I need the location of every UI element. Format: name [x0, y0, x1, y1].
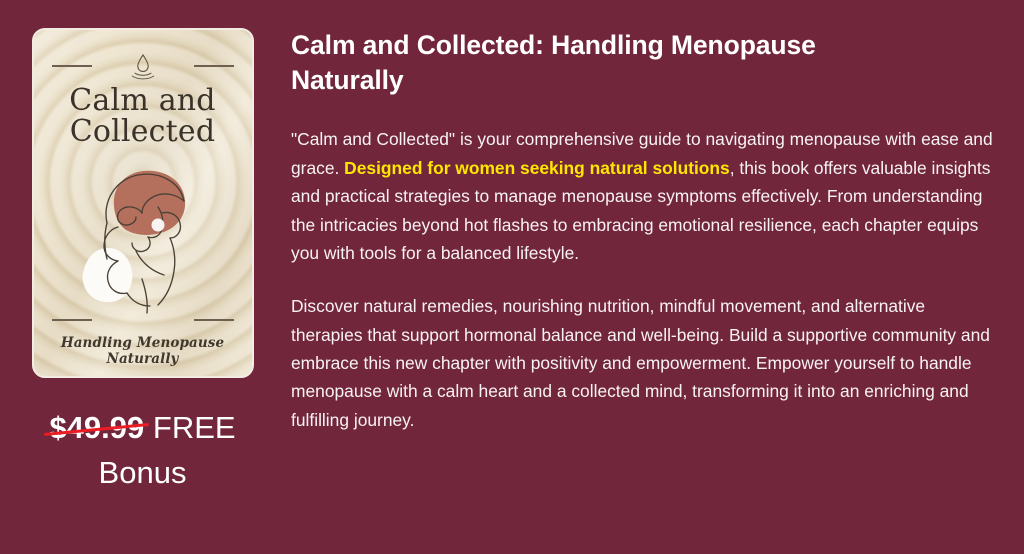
footer-rule-right: [194, 319, 234, 321]
cover-footer: Handling Menopause Naturally: [34, 319, 252, 378]
book-cover-image: Calm and Collected: [32, 28, 254, 378]
footer-rule-left: [52, 319, 92, 321]
line-art-woman-illustration: [58, 151, 228, 319]
product-media-column: Calm and Collected: [0, 0, 285, 496]
ornament-rule-right: [194, 65, 234, 67]
offer-heading: Calm and Collected: Handling Menopause N…: [291, 28, 931, 98]
offer-paragraph-1: "Calm and Collected" is your comprehensi…: [291, 125, 996, 267]
offer-details-column: Calm and Collected: Handling Menopause N…: [285, 0, 1024, 434]
water-droplet-icon: [130, 52, 156, 80]
bonus-offer-panel: Calm and Collected: [0, 0, 1024, 554]
cover-subtitle: Handling Menopause Naturally: [34, 335, 252, 367]
ornament-rule-left: [52, 65, 92, 67]
price-block: $49.99 FREE Bonus: [18, 406, 268, 496]
offer-paragraph-2: Discover natural remedies, nourishing nu…: [291, 292, 996, 434]
cover-bottom-ornament: [52, 319, 234, 321]
cover-top-ornament: [52, 52, 234, 80]
cover-title: Calm and Collected: [69, 86, 215, 147]
original-price: $49.99: [49, 406, 144, 451]
paragraph-1-highlight: Designed for women seeking natural solut…: [344, 158, 730, 178]
cover-title-line-2: Collected: [69, 117, 215, 148]
cover-title-line-1: Calm and: [69, 86, 215, 117]
